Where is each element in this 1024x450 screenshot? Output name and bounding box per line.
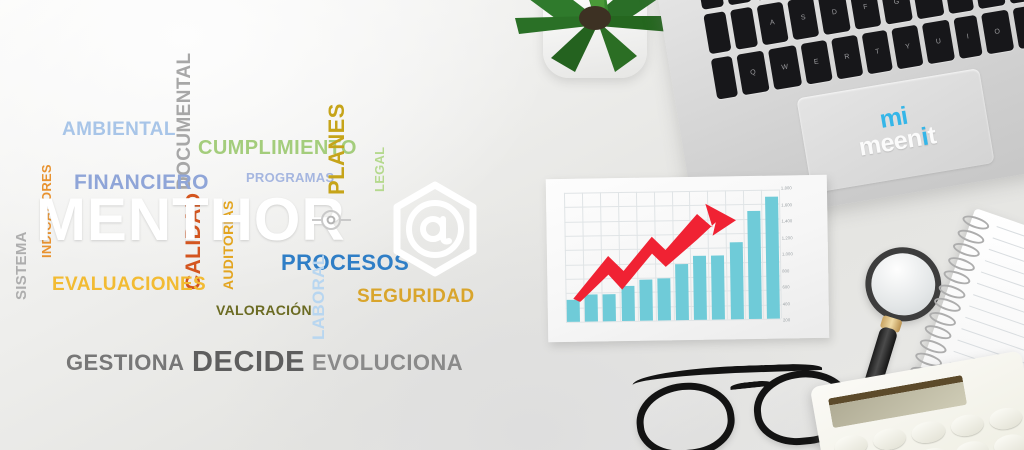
wordcloud-word: AMBIENTAL: [62, 120, 176, 139]
printed-bar-chart: 1,8001,6001,4001,2001,000800600400200: [546, 175, 830, 342]
notebook-line: [977, 283, 1024, 341]
calculator-key[interactable]: [915, 446, 951, 450]
chart-y-tick-label: 800: [782, 268, 789, 273]
chart-y-tick-label: 400: [783, 301, 790, 306]
keyboard-key[interactable]: P: [1012, 5, 1024, 49]
keyboard-key[interactable]: Y: [892, 25, 924, 69]
at-symbol-hexagon-icon: [387, 181, 483, 277]
keyboard-key[interactable]: I: [953, 15, 983, 59]
chart-bar: [765, 196, 780, 318]
keyboard-key[interactable]: J: [943, 0, 975, 14]
wordcloud-word: DECIDE: [192, 348, 305, 377]
keyboard-key[interactable]: Q: [737, 51, 770, 96]
wordcloud-word: PROGRAMAS: [246, 171, 334, 184]
chart-bar: [567, 299, 580, 322]
keyboard-key[interactable]: O: [981, 10, 1014, 55]
keyboard-key[interactable]: W: [768, 45, 802, 90]
keyboard-key[interactable]: D: [818, 0, 851, 35]
menthor-wordmark: MENTHOR: [36, 190, 346, 250]
wordcloud-word: LABORAL: [310, 255, 327, 340]
chart-y-tick-label: 1,400: [781, 218, 792, 223]
calculator-key[interactable]: [872, 426, 908, 450]
keyboard-key[interactable]: R: [831, 35, 864, 79]
chart-y-tick-label: 1,800: [781, 185, 792, 190]
chart-y-axis: 1,8001,6001,4001,2001,000800600400200: [781, 185, 823, 323]
calculator-key[interactable]: [949, 412, 985, 439]
notebook-line: [981, 271, 1024, 329]
keyboard-key[interactable]: F: [849, 0, 881, 30]
keyboard-key[interactable]: G: [880, 0, 914, 25]
wordcloud-word: VALORACIÓN: [216, 303, 312, 317]
notebook-line: [993, 237, 1024, 295]
keyboard-key[interactable]: U: [922, 20, 955, 64]
calculator-key[interactable]: [987, 405, 1023, 432]
keyboard-key[interactable]: [730, 6, 758, 50]
chart-y-tick-label: 1,600: [781, 202, 792, 207]
chart-y-tick-label: 1,000: [782, 251, 793, 256]
calculator-key[interactable]: [954, 439, 990, 450]
chart-bar: [747, 211, 762, 319]
keyboard-key[interactable]: H: [912, 0, 945, 20]
keyboard-key[interactable]: T: [862, 30, 894, 74]
wordcloud-word: PLANES: [326, 103, 348, 195]
wordcloud-word: SEGURIDAD: [357, 287, 474, 306]
chart-y-tick-label: 200: [783, 317, 790, 322]
wordcloud-word: SISTEMA: [14, 231, 29, 300]
keyboard-key[interactable]: K: [973, 0, 1006, 9]
chart-plot-area: [564, 190, 781, 322]
keyboard-key[interactable]: [749, 0, 778, 1]
keyboard-key[interactable]: [723, 0, 752, 5]
calculator-key[interactable]: [992, 432, 1024, 450]
trend-arrow-icon: [570, 198, 741, 302]
wordcloud-word: DOCUMENTAL: [175, 53, 194, 191]
wordcloud-word: GESTIONA: [66, 352, 184, 374]
menthor-logo: MENTHOR: [36, 186, 346, 254]
calculator-key[interactable]: [910, 419, 946, 446]
scene: SISTEMAINDICADORESAMBIENTALDOCUMENTALFIN…: [0, 0, 1024, 450]
keyboard-key[interactable]: E: [800, 40, 832, 84]
calculator-key[interactable]: [833, 433, 869, 450]
keyboard-key[interactable]: S: [787, 0, 820, 41]
wordcloud-word: LEGAL: [373, 147, 386, 192]
keyboard-key[interactable]: L: [1004, 0, 1024, 4]
wordcloud-word: EVALUACIONES: [52, 275, 206, 294]
chart-y-tick-label: 1,200: [782, 235, 793, 240]
chart-y-tick-label: 600: [782, 284, 789, 289]
keyboard-key[interactable]: A: [756, 1, 789, 45]
wordcloud-word: EVOLUCIONA: [312, 352, 463, 374]
meenit-wordmark: meenit: [857, 124, 937, 160]
